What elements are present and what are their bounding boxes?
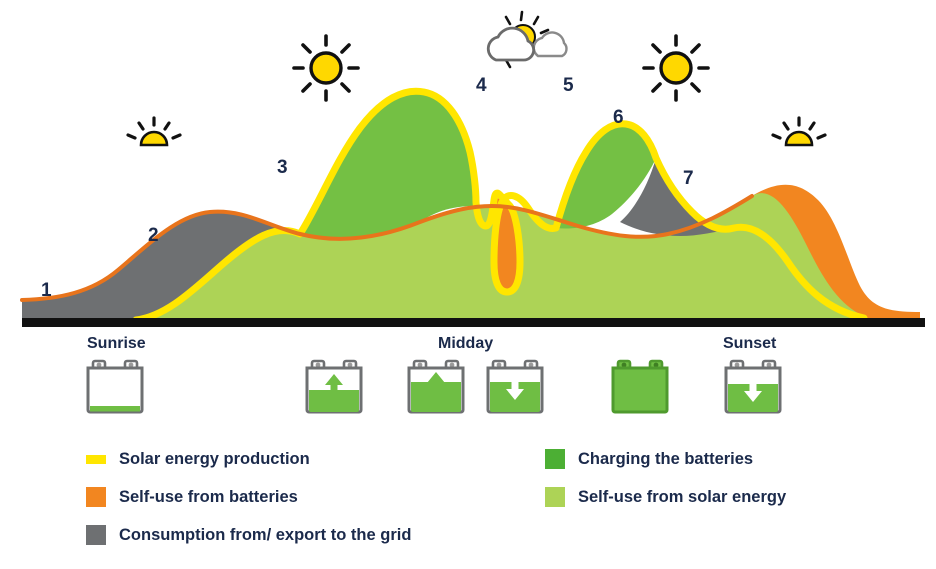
- callout-number-6: 6: [613, 108, 624, 127]
- legend-label-grid: Consumption from/ export to the grid: [119, 526, 411, 545]
- battery-icon-1: [84, 358, 146, 414]
- battery-icon-5: [609, 358, 671, 414]
- legend-label-solar-energy-production: Solar energy production: [119, 450, 310, 469]
- legend-swatch-grid: [86, 525, 106, 545]
- callout-number-3: 3: [277, 158, 288, 177]
- legend-label-self-use-from-solar-energy: Self-use from solar energy: [578, 488, 786, 507]
- sun-behind-cloud-icon: [476, 8, 572, 74]
- half-sun-icon: [770, 112, 828, 152]
- battery-icon-3: [405, 358, 467, 414]
- legend-swatch-self-use-from-batteries: [86, 487, 106, 507]
- legend-swatch-charging-the-batteries: [545, 449, 565, 469]
- callout-number-1: 1: [41, 281, 52, 300]
- sun-icon: [290, 32, 362, 104]
- callout-number-5: 5: [563, 76, 574, 95]
- legend-swatch-self-use-from-solar-energy: [545, 487, 565, 507]
- legend-swatch-solar-energy-production: [86, 455, 106, 464]
- legend: Solar energy production Self-use from ba…: [0, 440, 936, 560]
- callout-number-4: 4: [476, 76, 487, 95]
- sun-icon: [640, 32, 712, 104]
- callout-number-7: 7: [683, 169, 694, 188]
- half-sun-icon: [125, 112, 183, 152]
- solar-battery-area-chart: [0, 0, 936, 340]
- battery-icon-2: [303, 358, 365, 414]
- legend-item-self-use-from-batteries: Self-use from batteries: [86, 478, 411, 516]
- legend-label-self-use-from-batteries: Self-use from batteries: [119, 488, 298, 507]
- battery-icon-4: [484, 358, 546, 414]
- axis-label-sunrise: Sunrise: [87, 336, 146, 352]
- legend-column-right: Charging the batteries Self-use from sol…: [545, 440, 786, 516]
- legend-column-left: Solar energy production Self-use from ba…: [86, 440, 411, 554]
- axis-label-midday: Midday: [438, 336, 493, 352]
- legend-item-self-use-from-solar-energy: Self-use from solar energy: [545, 478, 786, 516]
- battery-icon-6: [722, 358, 784, 414]
- legend-item-solar-energy-production: Solar energy production: [86, 440, 411, 478]
- legend-item-grid: Consumption from/ export to the grid: [86, 516, 411, 554]
- chart-baseline: [22, 318, 925, 327]
- legend-item-charging-the-batteries: Charging the batteries: [545, 440, 786, 478]
- axis-label-sunset: Sunset: [723, 336, 776, 352]
- callout-number-2: 2: [148, 226, 159, 245]
- infographic-root: 1 2 3 4 5 6 7 Sunrise Midday Sunset: [0, 0, 936, 569]
- legend-label-charging-the-batteries: Charging the batteries: [578, 450, 753, 469]
